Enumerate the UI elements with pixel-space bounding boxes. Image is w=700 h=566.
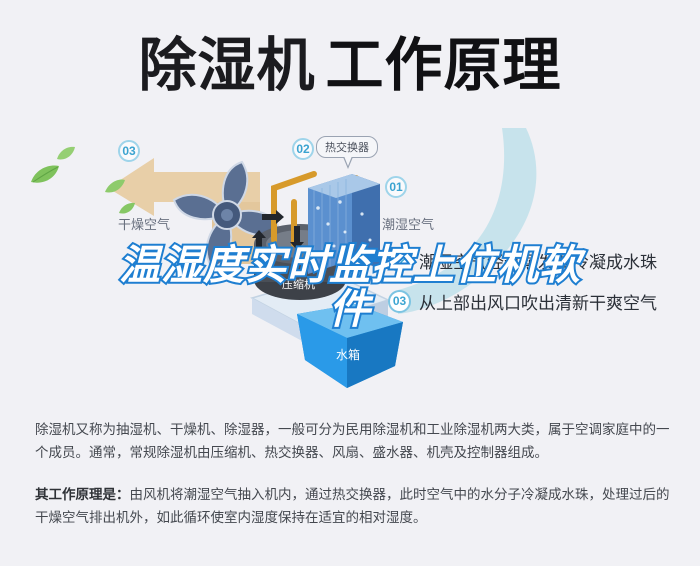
page-title-part1: 除湿机	[138, 33, 315, 98]
water-tank-label: 水箱	[336, 346, 360, 363]
marker-02-circle: 02	[292, 138, 314, 160]
flow-arrow-right-icon	[262, 210, 284, 224]
leaf-icon	[104, 178, 126, 195]
watermark-overlay: 温湿度实时监控上位机软 件	[0, 243, 700, 331]
leaf-icon	[56, 146, 76, 162]
leaf-icon	[30, 164, 60, 186]
heat-exchanger-callout: 热交换器	[316, 136, 378, 158]
watermark-line-2: 件	[0, 287, 700, 331]
dry-air-label: 干燥空气	[118, 214, 170, 233]
page-title-part2: 工作原理	[326, 33, 562, 98]
paragraph-1: 除湿机又称为抽湿机、干燥机、除湿器，一般可分为民用除湿机和工业除湿机两大类，属于…	[35, 418, 671, 464]
poster-canvas: 除湿机工作原理	[0, 0, 700, 566]
page-title: 除湿机工作原理	[0, 34, 700, 98]
paragraph-2-lead: 其工作原理是：	[35, 487, 130, 502]
moist-air-label: 潮湿空气	[382, 214, 434, 233]
paragraph-2-rest: 由风机将潮湿空气抽入机内，通过热交换器，此时空气中的水分子冷凝成水珠，处理过后的…	[35, 487, 670, 525]
watermark-line-1: 温湿度实时监控上位机软	[0, 243, 700, 287]
marker-03-circle: 03	[118, 140, 140, 162]
description-block: 除湿机又称为抽湿机、干燥机、除湿器，一般可分为民用除湿机和工业除湿机两大类，属于…	[35, 418, 671, 548]
paragraph-2: 其工作原理是：由风机将潮湿空气抽入机内，通过热交换器，此时空气中的水分子冷凝成水…	[35, 483, 671, 529]
marker-01-circle: 01	[385, 176, 407, 198]
